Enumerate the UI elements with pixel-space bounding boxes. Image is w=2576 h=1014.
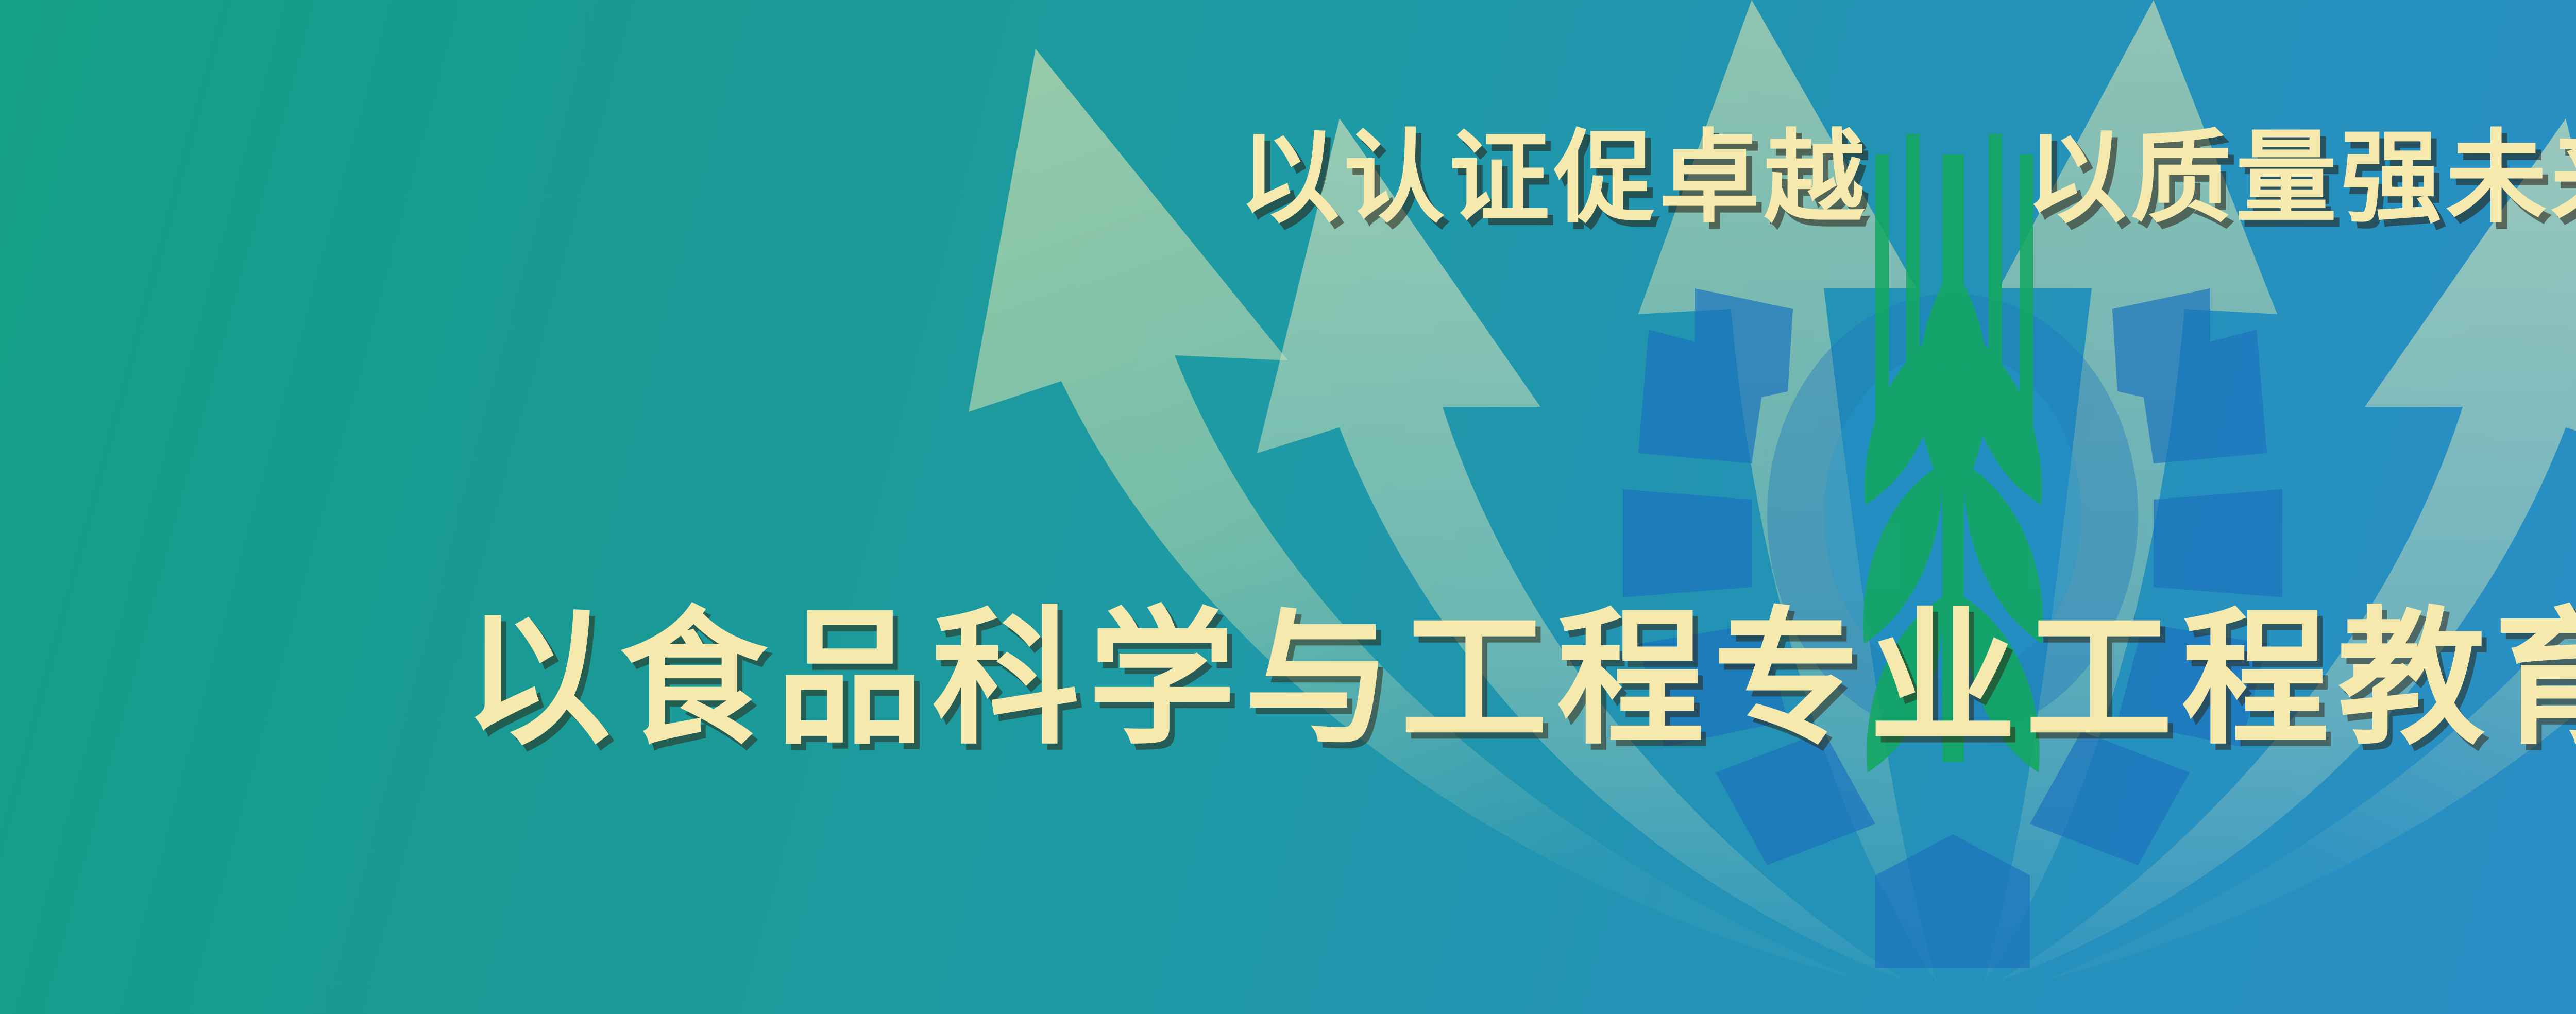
banner-tagline: 以认证促卓越 以质量强未来 — [1239, 128, 2576, 229]
headline-line-1: 以食品科学与工程专业工程教育认证为契机 — [463, 596, 2576, 761]
banner-headline: 以食品科学与工程专业工程教育认证为契机 奋力推进学院人才培养高质量发展 — [463, 266, 2576, 1014]
banner-text-stack: 以认证促卓越 以质量强未来 以食品科学与工程专业工程教育认证为契机 奋力推进学院… — [0, 0, 2576, 1014]
promo-banner: 以认证促卓越 以质量强未来 以食品科学与工程专业工程教育认证为契机 奋力推进学院… — [0, 0, 2576, 1014]
